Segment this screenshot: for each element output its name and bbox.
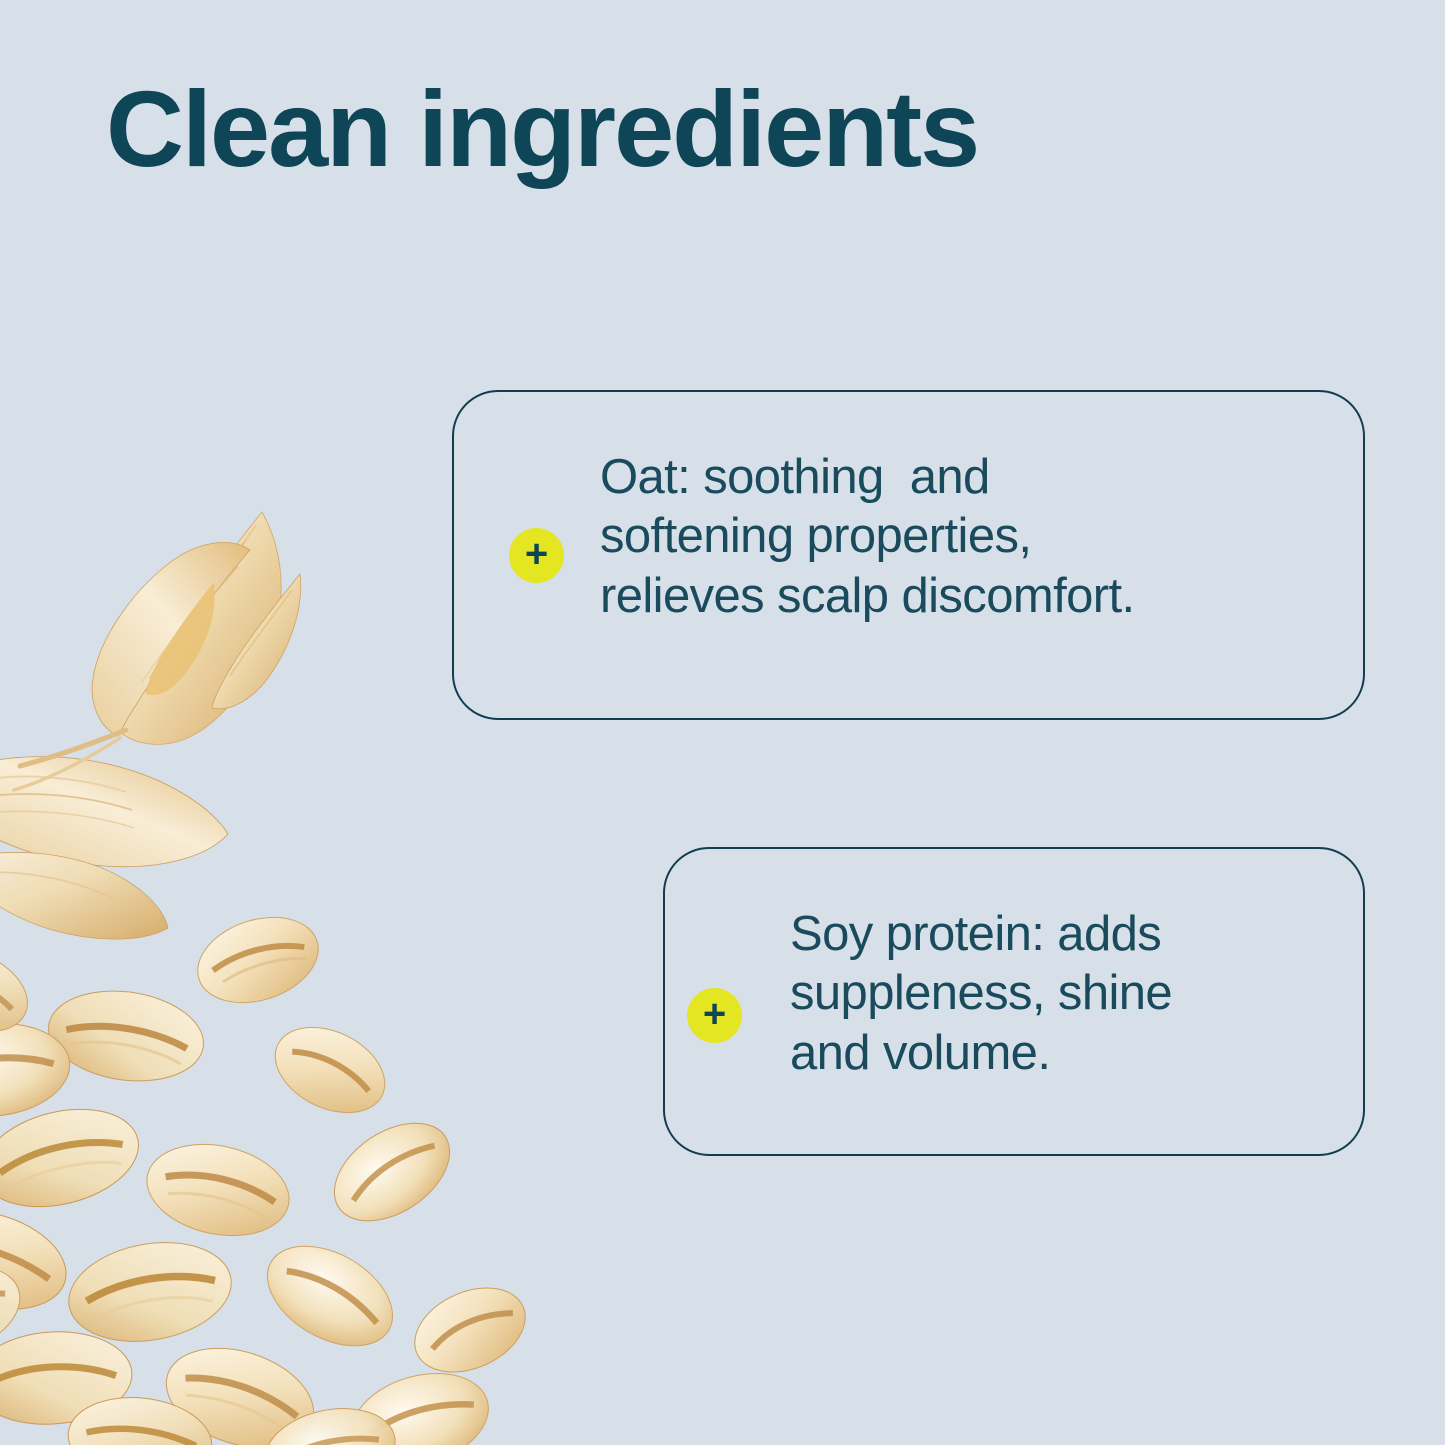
plus-icon: + <box>509 528 564 583</box>
ingredient-card-oat-text: Oat: soothing and softening properties, … <box>600 448 1134 626</box>
clean-ingredients-poster: Clean ingredients <box>0 0 1445 1445</box>
ingredient-card-soy-protein[interactable]: + Soy protein: adds suppleness, shine an… <box>663 847 1365 1156</box>
ingredient-card-soy-protein-text: Soy protein: adds suppleness, shine and … <box>790 905 1172 1083</box>
ingredient-card-oat[interactable]: + Oat: soothing and softening properties… <box>452 390 1365 720</box>
page-title: Clean ingredients <box>106 72 978 185</box>
plus-icon: + <box>687 988 742 1043</box>
